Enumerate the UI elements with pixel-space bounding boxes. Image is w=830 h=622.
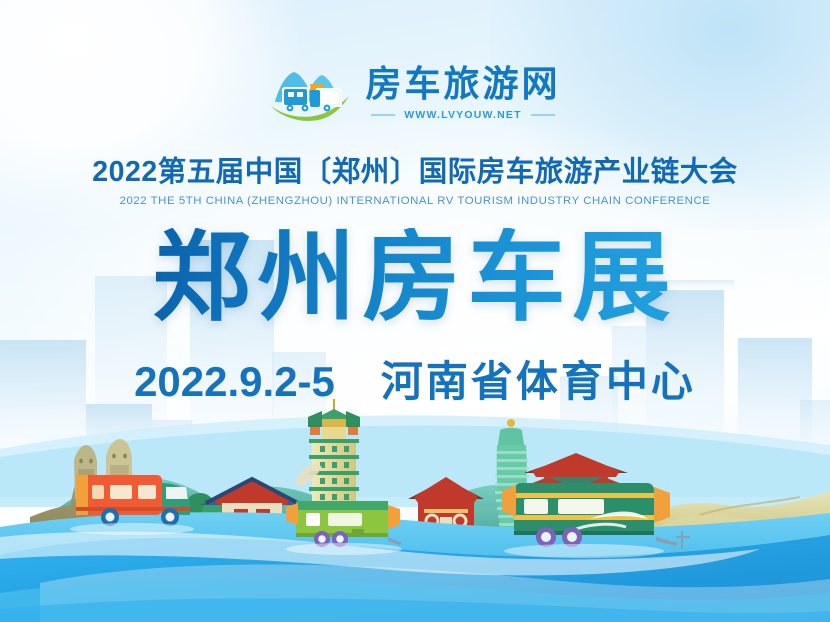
city-scene-illustration bbox=[0, 387, 830, 622]
headline-english: 2022 THE 5TH CHINA (ZHENGZHOU) INTERNATI… bbox=[0, 195, 830, 207]
brand-url[interactable]: WWW.LVYOUW.NET bbox=[404, 109, 522, 121]
dash-left-icon bbox=[371, 114, 395, 116]
brand-url-row: WWW.LVYOUW.NET bbox=[371, 109, 555, 121]
headline-chinese: 2022第五届中国〔郑州〕国际房车旅游产业链大会 bbox=[0, 158, 830, 188]
rv-green-trailer bbox=[286, 501, 402, 555]
event-title-text: 郑州房车展 bbox=[152, 228, 677, 326]
dash-right-icon bbox=[531, 114, 555, 116]
poster-canvas: 房车旅游网 WWW.LVYOUW.NET 2022第五届中国〔郑州〕国际房车旅游… bbox=[0, 0, 830, 622]
site-logo[interactable]: 房车旅游网 WWW.LVYOUW.NET bbox=[0, 62, 830, 124]
brand-name: 房车旅游网 bbox=[365, 66, 560, 102]
headline-block: 2022第五届中国〔郑州〕国际房车旅游产业链大会 2022 THE 5TH CH… bbox=[0, 158, 830, 207]
rv-mountain-logo-icon bbox=[269, 62, 353, 124]
event-title: 郑州房车展 bbox=[0, 228, 830, 326]
